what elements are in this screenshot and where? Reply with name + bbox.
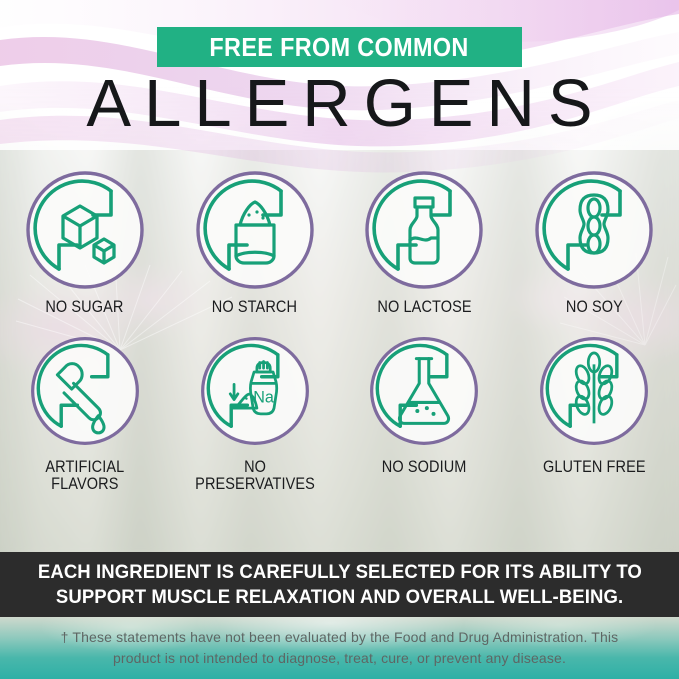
- badge-label: NO SUGAR: [46, 299, 124, 316]
- salt-shaker-na-icon: Na: [196, 332, 314, 450]
- badge-no-preservatives: Na NO PRESERVATIVES: [170, 332, 340, 493]
- badge-row-1: NO SUGAR: [0, 168, 679, 316]
- disclaimer-line-2: product is not intended to diagnose, tre…: [113, 649, 566, 668]
- badge-no-lactose: NO LACTOSE: [340, 168, 510, 316]
- badge-label: NO LACTOSE: [377, 299, 471, 316]
- badge-gluten-free: GLUTEN FREE: [509, 332, 679, 493]
- allergen-badge-grid: NO SUGAR: [0, 168, 679, 493]
- page-title: ALLERGENS: [0, 70, 679, 137]
- badge-label: GLUTEN FREE: [543, 459, 646, 476]
- badge-row-2: ARTIFICIAL FLAVORS: [0, 332, 679, 493]
- milk-bottle-icon: [362, 168, 486, 292]
- free-from-banner: FREE FROM COMMON: [157, 27, 522, 67]
- flour-sack-icon: [193, 168, 317, 292]
- wheat-stalk-icon: [535, 332, 653, 450]
- badge-no-starch: NO STARCH: [170, 168, 340, 316]
- badge-artificial-flavors: ARTIFICIAL FLAVORS: [0, 332, 170, 493]
- badge-label: NO PRESERVATIVES: [195, 459, 315, 493]
- badge-label: NO STARCH: [212, 299, 297, 316]
- salt-shaker-na-label: Na: [253, 389, 274, 407]
- banner-label: FREE FROM COMMON: [210, 32, 469, 63]
- sugar-cubes-icon: [23, 168, 147, 292]
- badge-label: NO SOY: [566, 299, 623, 316]
- flask-icon: [365, 332, 483, 450]
- statement-band: EACH INGREDIENT IS CAREFULLY SELECTED FO…: [0, 552, 679, 617]
- statement-line-2: SUPPORT MUSCLE RELAXATION AND OVERALL WE…: [56, 585, 623, 610]
- statement-line-1: EACH INGREDIENT IS CAREFULLY SELECTED FO…: [37, 560, 641, 585]
- badge-label: ARTIFICIAL FLAVORS: [45, 459, 124, 493]
- badge-no-soy: NO SOY: [509, 168, 679, 316]
- badge-no-sodium: NO SODIUM: [340, 332, 510, 493]
- badge-no-sugar: NO SUGAR: [0, 168, 170, 316]
- disclaimer-line-1: † These statements have not been evaluat…: [61, 628, 619, 647]
- soybean-pod-icon: [532, 168, 656, 292]
- badge-label: NO SODIUM: [382, 459, 467, 476]
- dropper-icon: [26, 332, 144, 450]
- allergen-infographic: FREE FROM COMMON ALLERGENS: [0, 0, 679, 679]
- disclaimer-band: † These statements have not been evaluat…: [0, 617, 679, 679]
